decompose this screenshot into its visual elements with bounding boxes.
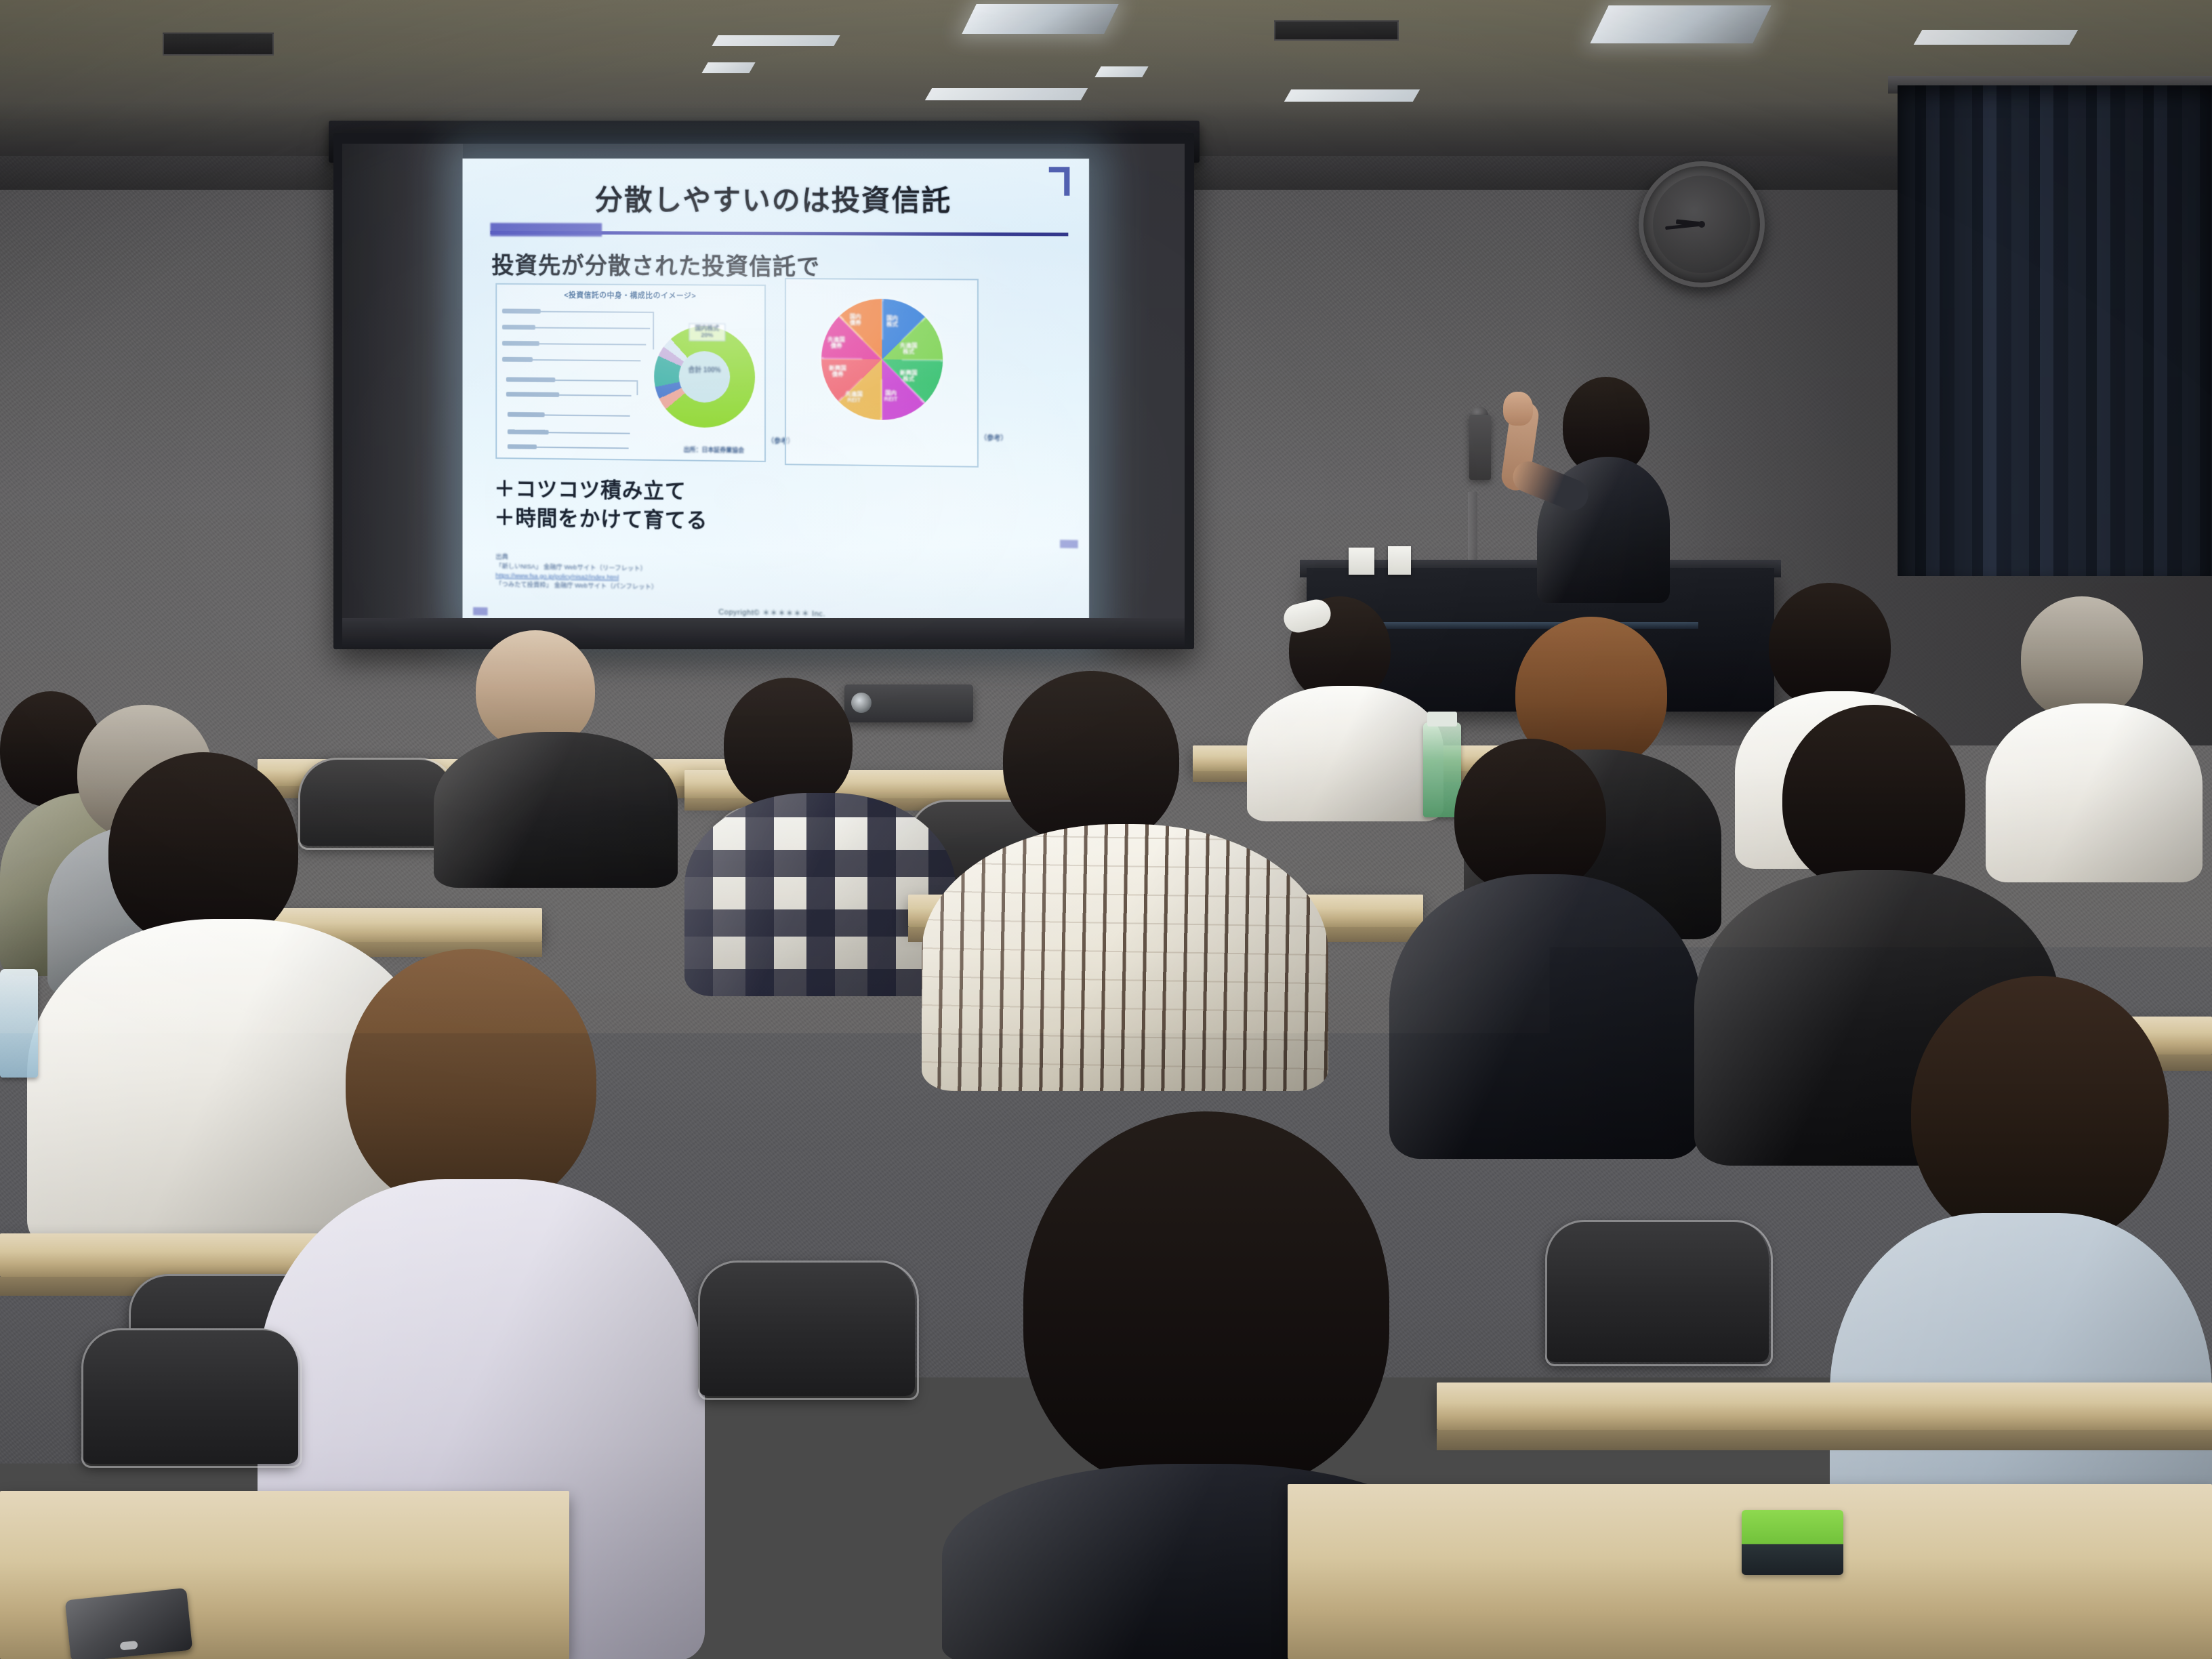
attendee-head: [346, 949, 596, 1213]
ceiling-light-strip-2: [701, 62, 755, 73]
chair-rim-frontmost-mid: [698, 1261, 919, 1400]
attendee-head: [1769, 583, 1891, 709]
donut-chart-footer: 出所：日本証券業協会: [663, 445, 764, 455]
donut-chart-caption: <投資信託の中身・構成比のイメージ>: [497, 289, 764, 302]
attendee-head: [1911, 976, 2169, 1247]
donut-chart-hole: [679, 351, 730, 403]
pie-slice-label-2: 先進国株式: [890, 342, 928, 355]
attendee-bald-back: [434, 630, 718, 874]
desk-edge-front-right: [1437, 1430, 2212, 1450]
seminar-room-photo: 分散しやすいのは投資信託 投資先が分散された投資信託で <投資信託の中身・構成比…: [0, 0, 2212, 1659]
slide-title-tab: [490, 223, 602, 237]
attendee-head: [1003, 671, 1179, 847]
curtain-shading: [1898, 85, 2212, 576]
attendee-head: [2021, 596, 2143, 720]
slide-title: 分散しやすいのは投資信託: [463, 178, 1090, 220]
projected-slide: 分散しやすいのは投資信託 投資先が分散された投資信託で <投資信託の中身・構成比…: [463, 159, 1090, 634]
ceiling-light-panel-2: [1590, 5, 1771, 43]
chart-panel-donut: <投資信託の中身・構成比のイメージ>: [495, 283, 766, 462]
ceiling-light-panel-1: [962, 4, 1118, 34]
pie-chart-side-label: （参考）: [980, 432, 1008, 443]
donut-center-label: 合計 100%: [679, 367, 730, 375]
pie-slice-label-5: 先進国REIT: [835, 391, 873, 404]
attendee-head: [1454, 739, 1606, 895]
ceiling-light-strip-6: [1284, 89, 1420, 102]
attendee-head: [724, 678, 853, 811]
ceiling-vent-2: [1274, 20, 1399, 41]
ceiling-light-strip-4: [1914, 30, 2078, 45]
slide-bullet-2: ＋時間をかけて育てる: [494, 504, 708, 535]
smartphone-on-desk: [65, 1588, 193, 1659]
clock-center-pin: [1698, 221, 1705, 228]
ceiling-vent-1: [163, 33, 274, 56]
slide-bullets: ＋コツコツ積み立て ＋時間をかけて育てる: [494, 475, 708, 535]
donut-leader-labels: [502, 305, 669, 453]
attendee-head: [1782, 705, 1965, 892]
ceiling-light-strip-3: [1094, 66, 1148, 77]
pie-slice-label-4: 国内REIT: [872, 390, 909, 403]
wall-clock: [1639, 161, 1765, 287]
attendee-torso: [922, 824, 1328, 1091]
donut-callout-label: 国内株式 20%: [689, 323, 726, 341]
pie-slice-label-6: 新興国債券: [819, 365, 857, 378]
slide-bullet-1: ＋コツコツ積み立て: [494, 475, 708, 507]
ceiling-light-strip-5: [925, 88, 1088, 100]
attendee-darknavy-right: [1389, 739, 1715, 1159]
pie-slice-label-1: 国内株式: [873, 315, 911, 328]
pie-slice-label-3: 新興国株式: [890, 369, 928, 382]
slide-content: 分散しやすいのは投資信託 投資先が分散された投資信託で <投資信託の中身・構成比…: [463, 159, 1090, 634]
podium-paper-2: [1388, 546, 1411, 575]
attendee-head: [1023, 1111, 1389, 1491]
wall-speaker: [1469, 415, 1491, 480]
pie-slice-label-7: 先進国債券: [817, 336, 855, 349]
ceiling-light-strip-1: [712, 35, 840, 46]
chair-rim-frontmost-left: [81, 1328, 302, 1468]
drink-bottle-left: [0, 969, 38, 1078]
chair-rim-frontmost-right: [1545, 1220, 1773, 1366]
pie-slice-label-8: 国内債券: [836, 314, 874, 327]
green-pencil-pouch: [1742, 1510, 1843, 1575]
slide-source-block: 出典 「新しいNISA」 金融庁 Webサイト（リーフレット） https://…: [495, 552, 872, 596]
podium-paper-1: [1349, 548, 1374, 575]
drink-bottle-cap: [1427, 712, 1457, 726]
chart-panel-pie: 国内株式 先進国株式 新興国株式 国内REIT 先進国REIT 新興国債券 先進…: [785, 278, 979, 468]
desk-row-front-right: [1437, 1382, 2212, 1430]
attendee-torso: [434, 732, 678, 888]
phone-home-button: [120, 1641, 138, 1651]
presenter-hand: [1503, 392, 1533, 426]
presenter: [1491, 377, 1681, 600]
screen-left-margin: [342, 144, 463, 638]
slide-subtitle: 投資先が分散された投資信託で: [491, 247, 820, 281]
slide-marker-right: [1060, 539, 1078, 548]
